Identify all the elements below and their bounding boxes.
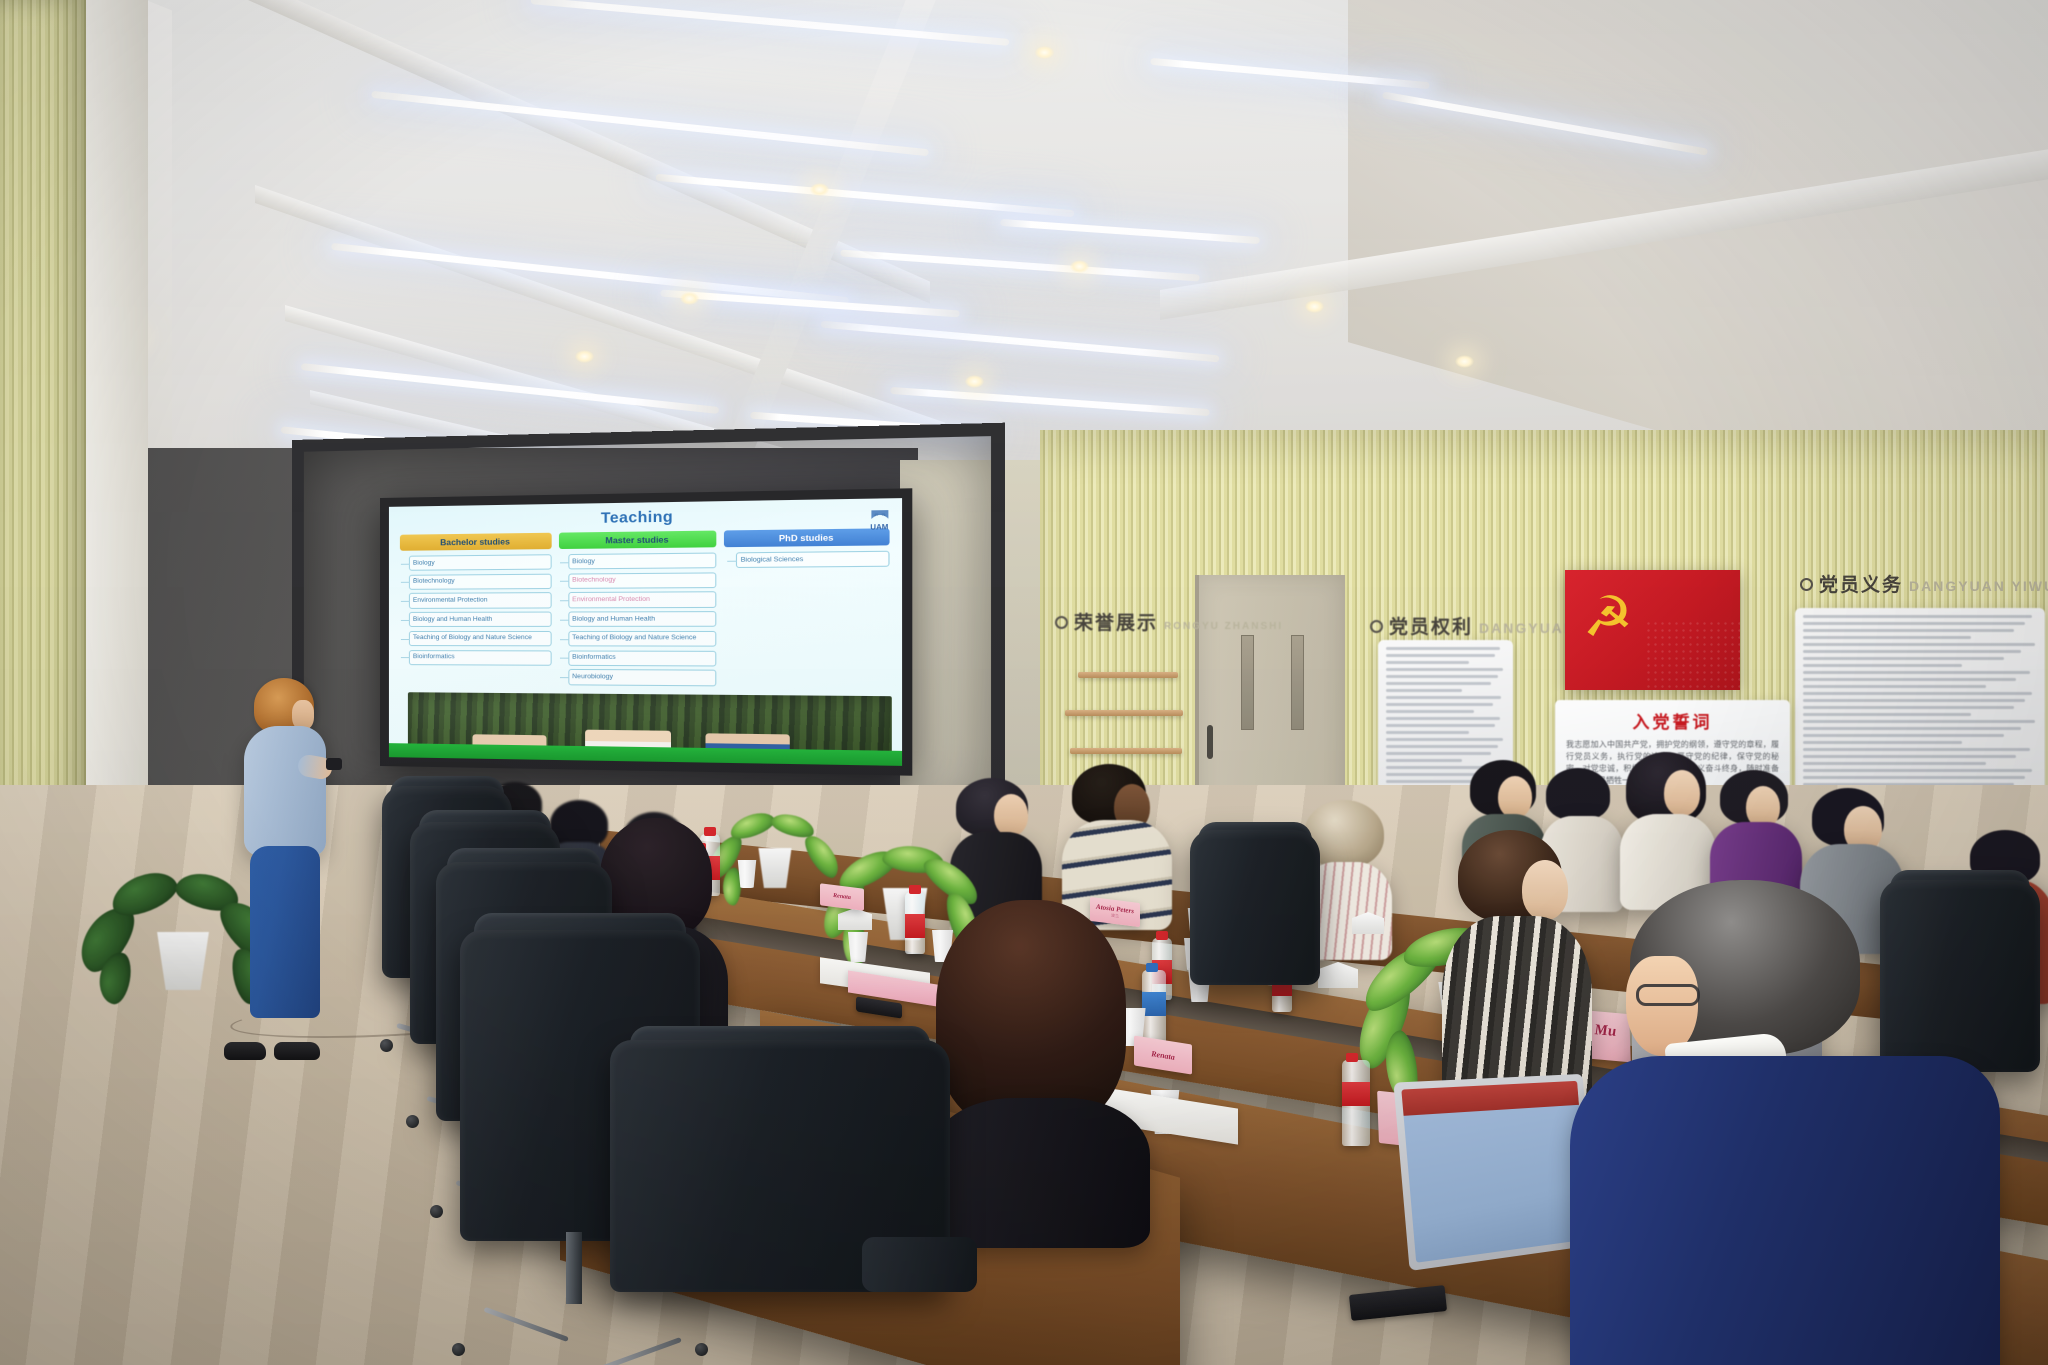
slide-item: Biology and Human Health bbox=[409, 612, 551, 628]
text-line bbox=[1803, 734, 2004, 737]
text-line bbox=[1386, 738, 1503, 741]
laptop-screen[interactable] bbox=[1401, 1081, 1589, 1263]
honor-display-pinyin: RONGYU ZHANSHI bbox=[1164, 621, 1283, 632]
ceiling-downlight bbox=[1035, 46, 1054, 59]
plant-leaf bbox=[727, 808, 777, 843]
display-shelf-1 bbox=[1078, 672, 1178, 678]
uam-logo-icon: UAM bbox=[867, 510, 892, 536]
text-line bbox=[1803, 720, 2035, 723]
circle-bullet-icon bbox=[1055, 616, 1068, 629]
ceiling-downlight bbox=[1305, 300, 1324, 313]
text-line bbox=[1803, 699, 2025, 702]
display-shelf-3 bbox=[1070, 748, 1182, 754]
office-chair-far[interactable] bbox=[1190, 830, 1320, 1040]
slide-column-1: Bachelor studiesBiologyBiotechnologyEnvi… bbox=[400, 533, 551, 689]
slide-item: Biotechnology bbox=[409, 573, 551, 589]
chair-leg bbox=[484, 1306, 569, 1341]
slide-item: Biology bbox=[568, 553, 717, 570]
presentation-screen[interactable]: Teaching UAM Bachelor studiesBiologyBiot… bbox=[380, 488, 912, 775]
presenter-shirt bbox=[244, 726, 326, 856]
person-near-wavy-hair bbox=[930, 900, 1150, 1230]
laptop-screen-header bbox=[1401, 1081, 1579, 1116]
ceiling-downlight bbox=[810, 183, 829, 196]
text-line bbox=[1803, 650, 2021, 653]
text-line bbox=[1803, 706, 2014, 709]
office-chair-foreground-large[interactable] bbox=[610, 1040, 950, 1365]
text-line bbox=[1803, 622, 2025, 625]
hammer-sickle-icon: ☭ bbox=[1577, 586, 1639, 648]
chair-armrest bbox=[862, 1237, 978, 1291]
door-handle-icon[interactable] bbox=[1207, 725, 1213, 759]
ceiling-downlight bbox=[680, 292, 699, 305]
text-line bbox=[1803, 629, 2014, 632]
text-line bbox=[1386, 752, 1491, 755]
ceiling-light-bar bbox=[890, 387, 1210, 416]
ceiling-light-bar bbox=[331, 243, 849, 304]
text-line bbox=[1386, 717, 1500, 720]
slide-item: Environmental Protection bbox=[409, 593, 551, 609]
slide-item: Biotechnology bbox=[568, 572, 717, 589]
slide-item: Teaching of Biology and Nature Science bbox=[568, 631, 717, 647]
text-line bbox=[1803, 692, 2032, 695]
ceiling-beam-left bbox=[146, 0, 172, 511]
text-line bbox=[1803, 615, 2032, 618]
oath-title: 入党誓词 bbox=[1566, 708, 1779, 733]
presenter-shoe-left bbox=[224, 1042, 266, 1060]
conference-room-photo: Teaching UAM Bachelor studiesBiologyBiot… bbox=[0, 0, 2048, 1365]
ceiling-downlight bbox=[1455, 355, 1474, 368]
slide-item: Biological Sciences bbox=[736, 551, 889, 569]
member-duties-cn: 党员义务 bbox=[1819, 570, 1903, 597]
member-duties-label: 党员义务 DANGYUAN YIWU bbox=[1800, 570, 2048, 597]
slide-column-header: Master studies bbox=[559, 531, 717, 549]
circle-bullet-icon bbox=[1800, 578, 1813, 591]
torso bbox=[930, 1098, 1150, 1248]
text-line bbox=[1386, 731, 1469, 734]
member-duties-text bbox=[1795, 608, 2045, 814]
ceiling-light-bar bbox=[820, 321, 1219, 363]
chair-back bbox=[1190, 830, 1320, 985]
chair-caster bbox=[406, 1115, 419, 1128]
chair-caster bbox=[380, 1039, 393, 1052]
person-navy-suit bbox=[1570, 880, 2000, 1365]
honor-display-cn: 荣誉展示 bbox=[1074, 608, 1158, 635]
text-line bbox=[1803, 762, 1986, 765]
placard-name: Renata bbox=[1151, 1049, 1175, 1062]
chair-caster bbox=[452, 1343, 465, 1356]
text-line bbox=[1386, 675, 1498, 678]
text-line bbox=[1386, 696, 1501, 699]
ceiling-light-bar bbox=[1000, 219, 1260, 244]
slide-title: Teaching bbox=[398, 505, 892, 530]
hair bbox=[1546, 768, 1610, 820]
presenter-shoe-right bbox=[274, 1042, 320, 1060]
text-line bbox=[1386, 661, 1469, 664]
presentation-clicker[interactable] bbox=[326, 758, 342, 770]
circle-bullet-icon bbox=[1370, 620, 1383, 633]
eyeglasses-icon bbox=[1636, 984, 1700, 1006]
slide-column-header: PhD studies bbox=[724, 528, 889, 547]
slide-item: Neurobiology bbox=[568, 669, 717, 686]
text-line bbox=[1803, 727, 2021, 730]
slide-item: Biology and Human Health bbox=[568, 611, 717, 627]
face bbox=[1498, 776, 1532, 818]
presenter-jeans bbox=[250, 846, 320, 1018]
text-line bbox=[1386, 682, 1491, 685]
text-line bbox=[1386, 745, 1498, 748]
slide-item: Bioinformatics bbox=[409, 650, 551, 666]
ceiling-downlight bbox=[1070, 260, 1089, 273]
slide-columns: Bachelor studiesBiologyBiotechnologyEnvi… bbox=[398, 528, 892, 691]
water-bottle[interactable] bbox=[1342, 1060, 1370, 1146]
text-line bbox=[1803, 685, 1986, 688]
uam-logo-text: UAM bbox=[870, 524, 888, 532]
text-line bbox=[1803, 741, 1962, 744]
slide-item: Environmental Protection bbox=[568, 592, 717, 608]
laptop-lid bbox=[1393, 1074, 1596, 1271]
text-line bbox=[1803, 755, 2016, 758]
ceiling-light-bar bbox=[371, 91, 929, 156]
placard-name: Renata bbox=[833, 893, 851, 901]
text-line bbox=[1803, 643, 2035, 646]
honor-display-label: 荣誉展示 RONGYU ZHANSHI bbox=[1055, 608, 1283, 635]
chair-caster bbox=[430, 1205, 443, 1218]
door-window-right bbox=[1291, 635, 1304, 730]
text-line bbox=[1803, 671, 2030, 674]
torso-navy-jacket bbox=[1570, 1056, 2000, 1365]
water-bottle[interactable] bbox=[905, 892, 925, 954]
text-line bbox=[1803, 748, 2030, 751]
face bbox=[1664, 770, 1700, 816]
ceiling-downlight bbox=[965, 375, 984, 388]
ceiling-light-bar bbox=[531, 0, 1010, 46]
slide-column-2: Master studiesBiologyBiotechnologyEnviro… bbox=[559, 531, 717, 690]
display-shelf-2 bbox=[1065, 710, 1183, 716]
text-line bbox=[1803, 776, 2025, 779]
text-line bbox=[1803, 713, 1971, 716]
plant-pot bbox=[752, 848, 798, 888]
text-line bbox=[1386, 647, 1500, 650]
face bbox=[1522, 860, 1568, 920]
slide-column-header: Bachelor studies bbox=[400, 533, 551, 551]
face bbox=[994, 794, 1028, 836]
text-line bbox=[1386, 710, 1474, 713]
slide-surface: Teaching UAM Bachelor studiesBiologyBiot… bbox=[389, 498, 902, 766]
text-line bbox=[1803, 769, 2032, 772]
slide-item: Biology bbox=[409, 554, 551, 571]
text-line bbox=[1386, 654, 1495, 657]
text-line bbox=[1386, 703, 1493, 706]
door-window-left bbox=[1241, 635, 1254, 730]
text-line bbox=[1803, 664, 1962, 667]
text-line bbox=[1386, 759, 1462, 762]
text-line bbox=[1803, 657, 2004, 660]
slide-column-3: PhD studiesBiological Sciences bbox=[724, 528, 889, 691]
text-line bbox=[1803, 678, 2016, 681]
bottle-label bbox=[1342, 1082, 1370, 1106]
text-line bbox=[1386, 668, 1503, 671]
party-flag: ☭ bbox=[1565, 570, 1740, 690]
uam-crest-icon bbox=[871, 510, 888, 523]
member-rights-cn: 党员权利 bbox=[1389, 612, 1473, 639]
text-line bbox=[1386, 780, 1474, 783]
member-duties-pinyin: DANGYUAN YIWU bbox=[1909, 578, 2048, 594]
text-line bbox=[1386, 689, 1462, 692]
slide-item: Teaching of Biology and Nature Science bbox=[409, 631, 551, 647]
text-line bbox=[1803, 636, 1971, 639]
text-line bbox=[1386, 724, 1495, 727]
presenter bbox=[228, 678, 332, 1060]
hair bbox=[936, 900, 1126, 1130]
plant-pot bbox=[147, 932, 219, 990]
ceiling-downlight bbox=[575, 350, 594, 363]
laptop[interactable] bbox=[1393, 1074, 1596, 1271]
bottle-label bbox=[905, 914, 925, 938]
slide-item: Bioinformatics bbox=[568, 650, 717, 666]
flag-dot-pattern bbox=[1645, 620, 1740, 690]
